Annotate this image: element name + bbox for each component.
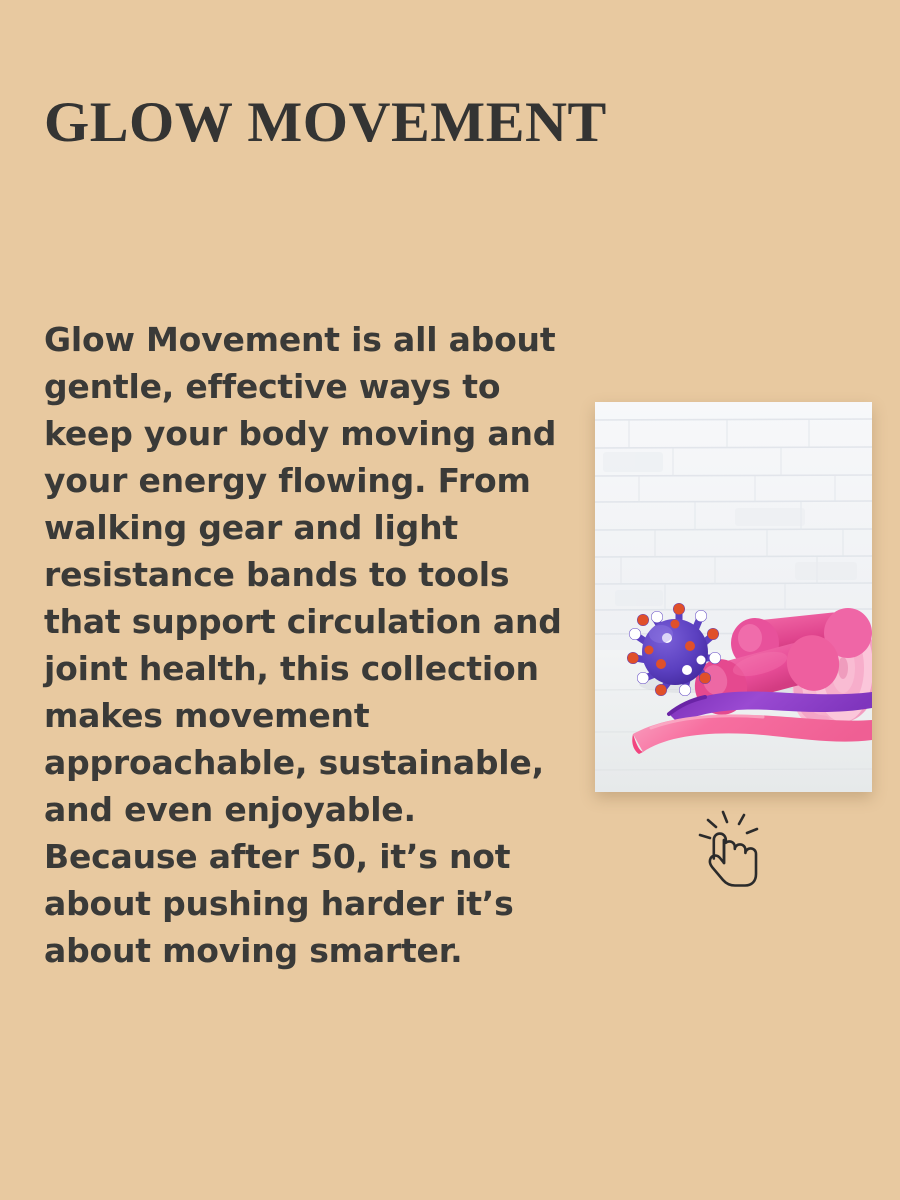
click-spark-lines <box>700 812 757 838</box>
hand-outline <box>710 834 756 886</box>
fitness-equipment-photo[interactable] <box>595 402 872 792</box>
poster-canvas: GLOW MOVEMENT Glow Movement is all about… <box>0 0 900 1200</box>
pointing-hand-click-cursor[interactable] <box>697 806 769 888</box>
collection-description: Glow Movement is all about gentle, effec… <box>44 316 566 974</box>
fitness-equipment-illustration <box>595 402 872 792</box>
page-title: GLOW MOVEMENT <box>44 92 607 154</box>
pointing-hand-click-cursor-icon <box>697 806 769 888</box>
